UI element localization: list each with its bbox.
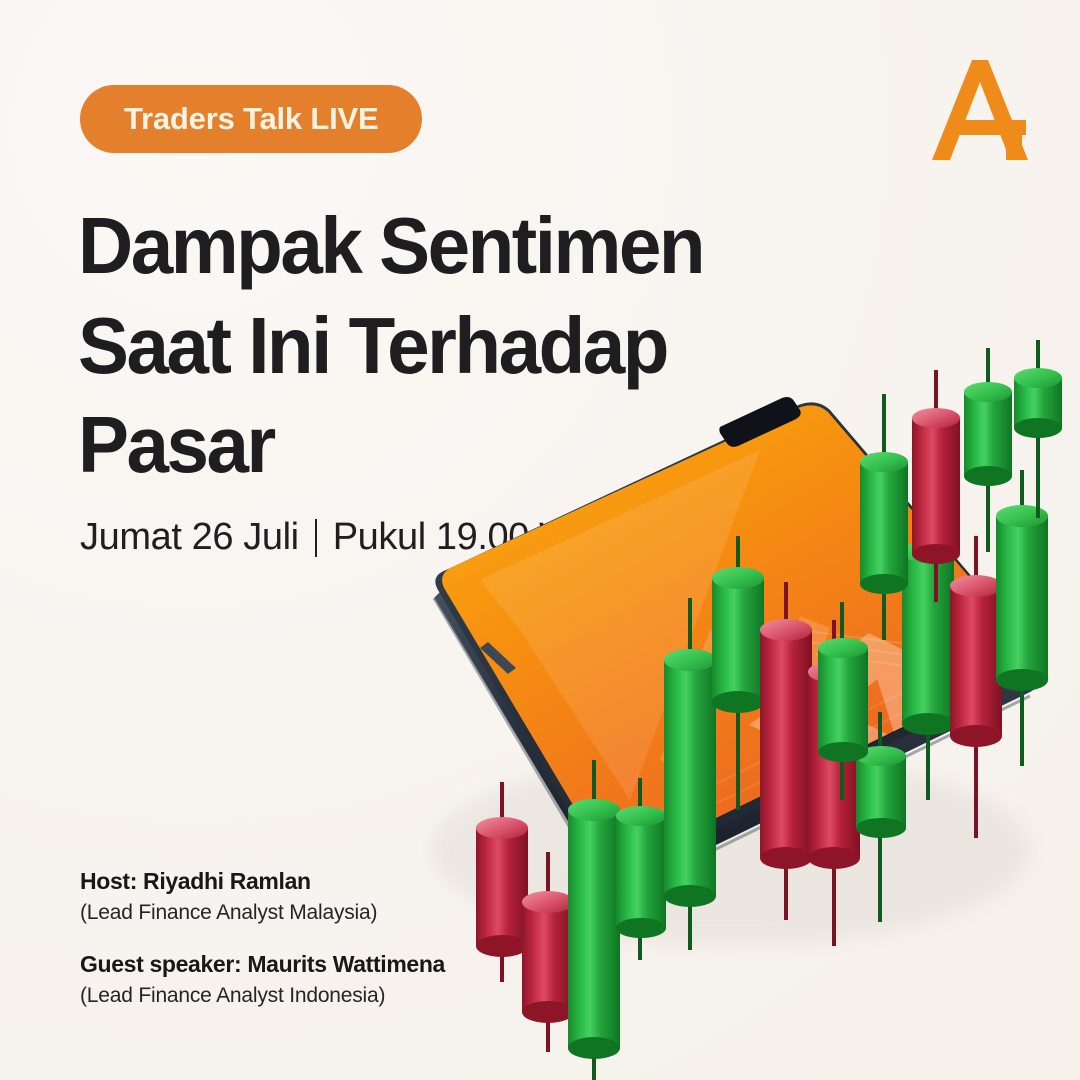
credit-host-role: (Lead Finance Analyst Malaysia)	[80, 901, 445, 925]
headline-line-1: Dampak Sentimen	[78, 196, 804, 296]
credit-guest: Guest speaker: Maurits Wattimena (Lead F…	[80, 951, 445, 1008]
candle-peak-3	[964, 348, 1012, 552]
candle-peak-2	[912, 370, 960, 602]
credit-host-name: Host: Riyadhi Ramlan	[80, 868, 445, 895]
schedule-separator	[315, 519, 317, 557]
live-badge-label: Traders Talk LIVE	[124, 101, 378, 137]
schedule-date: Jumat 26 Juli	[80, 516, 299, 559]
candle-peak-4	[1014, 340, 1062, 518]
credit-guest-role: (Lead Finance Analyst Indonesia)	[80, 984, 445, 1008]
promo-poster: Traders Talk LIVE Dampak Sentimen Saat I…	[0, 0, 1080, 1080]
candlestick-peak-group	[820, 340, 1080, 700]
credit-guest-name: Guest speaker: Maurits Wattimena	[80, 951, 445, 978]
brand-a-monogram-icon	[928, 56, 1032, 164]
candle-3	[568, 760, 620, 1080]
credit-host: Host: Riyadhi Ramlan (Lead Finance Analy…	[80, 868, 445, 925]
live-badge[interactable]: Traders Talk LIVE	[80, 85, 422, 153]
credits: Host: Riyadhi Ramlan (Lead Finance Analy…	[80, 868, 445, 1008]
candle-peak-1	[860, 394, 908, 640]
